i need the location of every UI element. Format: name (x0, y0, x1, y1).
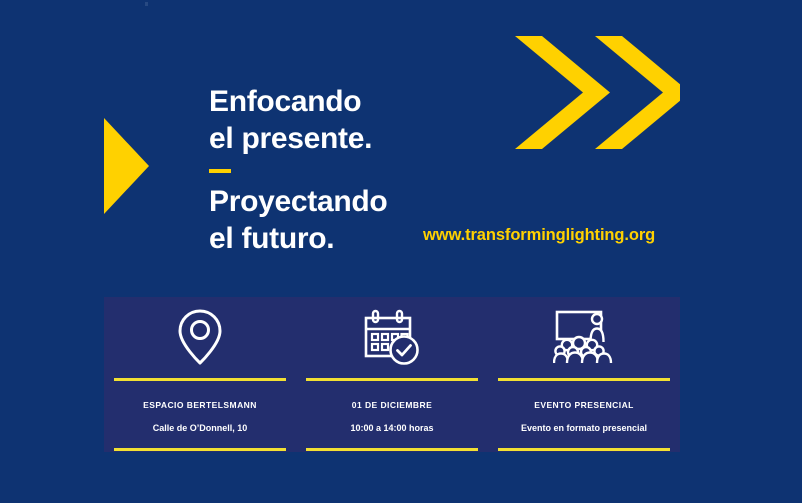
info-panel: ESPACIO BERTELSMANN Calle de O’Donnell, … (104, 297, 680, 452)
info-subtitle: Calle de O’Donnell, 10 (153, 423, 248, 433)
info-column-location: ESPACIO BERTELSMANN Calle de O’Donnell, … (104, 297, 296, 452)
double-chevron-right-icon (515, 36, 680, 149)
info-column-date: 01 DE DICIEMBRE 10:00 a 14:00 horas (296, 297, 488, 452)
location-pin-icon (177, 297, 223, 377)
info-title: 01 DE DICIEMBRE (352, 400, 432, 410)
divider-bottom (114, 448, 286, 451)
presentation-audience-icon (553, 297, 615, 377)
info-subtitle: 10:00 a 14:00 horas (350, 423, 433, 433)
corner-speck (145, 2, 148, 6)
divider-bottom (306, 448, 478, 451)
headline-line-2: el presente. (209, 121, 469, 158)
website-url[interactable]: www.transforminglighting.org (423, 226, 655, 245)
divider-top (306, 378, 478, 381)
divider-bottom (498, 448, 670, 451)
headline-line-1: Enfocando (209, 84, 469, 121)
info-title: ESPACIO BERTELSMANN (143, 400, 257, 410)
divider-top (498, 378, 670, 381)
event-poster: Enfocando el presente. Proyectando el fu… (0, 0, 802, 503)
info-column-format: EVENTO PRESENCIAL Evento en formato pres… (488, 297, 680, 452)
divider-top (114, 378, 286, 381)
yellow-triangle-right-icon (104, 118, 149, 214)
info-title: EVENTO PRESENCIAL (534, 400, 634, 410)
headline-line-3: Proyectando (209, 184, 469, 221)
calendar-check-icon (363, 297, 421, 377)
info-subtitle: Evento en formato presencial (521, 423, 647, 433)
yellow-dash-divider (209, 169, 231, 173)
